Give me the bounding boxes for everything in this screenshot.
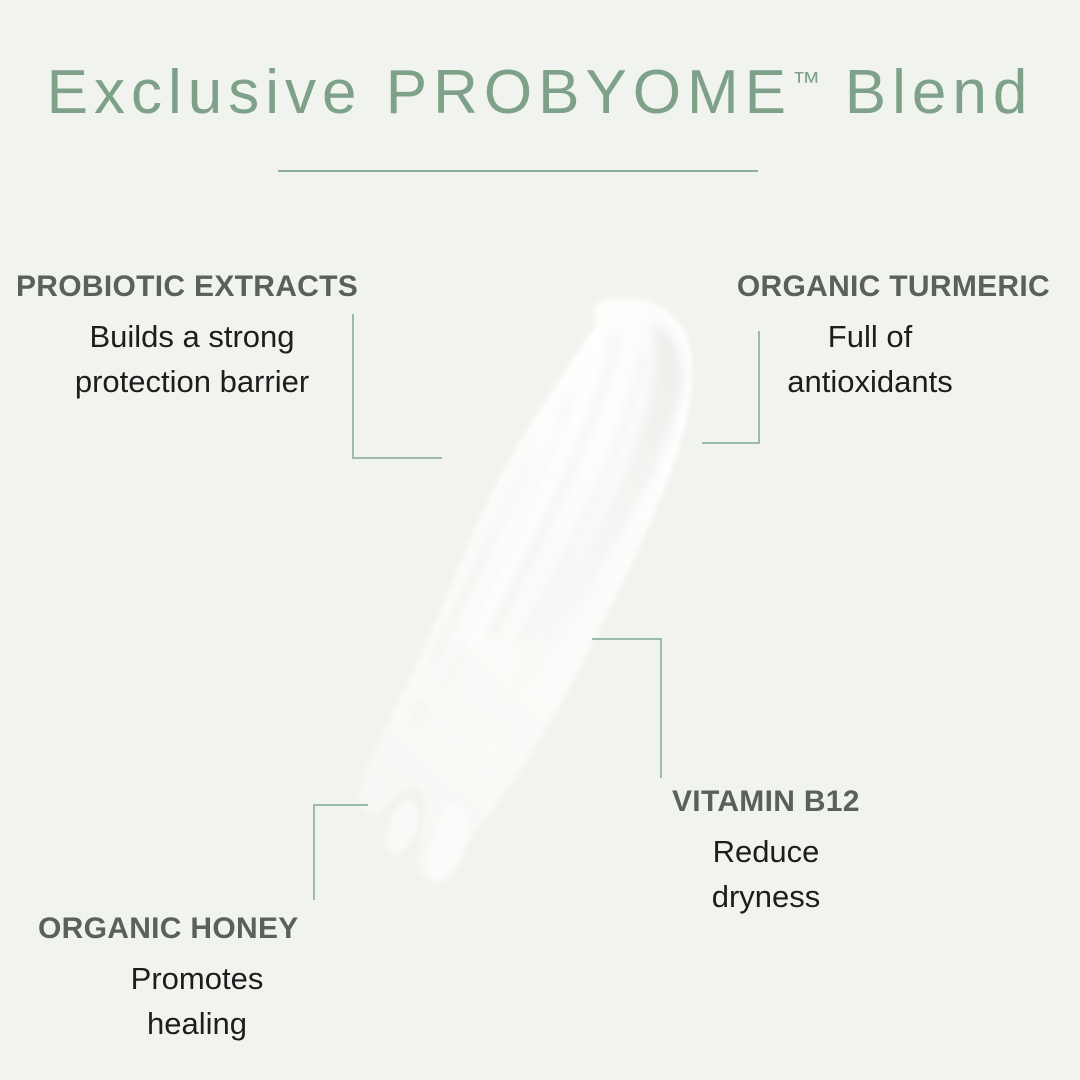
callout-vitamin-b12: VITAMIN B12 Reduce dryness <box>672 785 860 920</box>
callout-heading-turmeric: ORGANIC TURMERIC <box>690 270 1050 303</box>
connector-line-turmeric <box>702 331 760 444</box>
page-title-suffix: Blend <box>822 58 1034 127</box>
page-title-prefix: Exclusive PROBYOME <box>47 58 792 127</box>
callout-description-b12: Reduce dryness <box>672 830 860 920</box>
callout-organic-honey: ORGANIC HONEY Promotes healing <box>38 912 356 1047</box>
callout-heading-b12: VITAMIN B12 <box>672 785 860 818</box>
page-title: Exclusive PROBYOME™ Blend <box>0 62 1080 124</box>
callout-description-line: healing <box>38 1002 356 1047</box>
trademark-symbol: ™ <box>792 66 822 98</box>
callout-description-line: dryness <box>672 875 860 920</box>
callout-probiotic-extracts: PROBIOTIC EXTRACTS Builds a strong prote… <box>16 270 368 405</box>
callout-description-line: Reduce <box>672 830 860 875</box>
connector-line-honey <box>313 804 368 900</box>
title-divider <box>278 170 758 172</box>
connector-line-probiotic <box>352 314 442 459</box>
callout-heading-probiotic: PROBIOTIC EXTRACTS <box>16 270 368 303</box>
callout-description-line: Promotes <box>38 957 356 1002</box>
infographic-canvas: Exclusive PROBYOME™ Blend <box>0 0 1080 1080</box>
callout-description-line: protection barrier <box>16 360 368 405</box>
callout-description-line: Builds a strong <box>16 315 368 360</box>
callout-description-probiotic: Builds a strong protection barrier <box>16 315 368 405</box>
callout-heading-honey: ORGANIC HONEY <box>38 912 356 945</box>
callout-description-honey: Promotes healing <box>38 957 356 1047</box>
connector-line-b12 <box>592 638 662 778</box>
